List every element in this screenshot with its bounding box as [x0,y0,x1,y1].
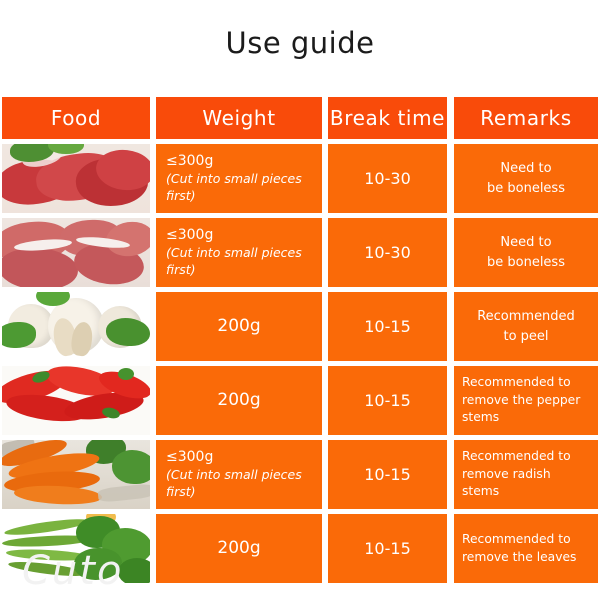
use-guide-table: Food Weight Break time Remarks ≤300g (Cu… [2,97,598,588]
table-row: 200g 10-15 Recommended to remove the lea… [2,514,598,583]
weight-note: (Cut into small pieces first) [166,171,322,205]
weight-cell: 200g [156,292,322,361]
carrot-photo [2,440,150,509]
header-cell-food: Food [2,97,150,139]
remark-line: remove radish [462,466,551,483]
garlic-photo [2,292,150,361]
break-time-value: 10-15 [364,391,411,410]
break-time-value: 10-15 [364,317,411,336]
weight-cell: ≤300g (Cut into small pieces first) [156,440,322,509]
food-cell [2,514,150,583]
weight-note: (Cut into small pieces first) [166,245,322,279]
remark-line: stems [462,409,499,426]
food-cell [2,440,150,509]
header-cell-break-time: Break time [328,97,447,139]
remarks-cell: Recommended to remove the pepper stems [454,366,598,435]
break-time-cell: 10-15 [328,514,447,583]
beef-slices-photo [2,144,150,213]
table-row: 200g 10-15 Recommended to peel [2,292,598,361]
weight-value: 200g [217,315,260,338]
break-time-value: 10-15 [364,465,411,484]
remarks-cell: Recommended to remove radish stems [454,440,598,509]
remark-line: Need to [500,233,551,253]
remarks-cell: Recommended to peel [454,292,598,361]
remark-line: Recommended to [462,374,571,391]
weight-cell: ≤300g (Cut into small pieces first) [156,218,322,287]
remark-line: be boneless [487,179,565,199]
remark-line: be boneless [487,253,565,273]
header-cell-weight: Weight [156,97,322,139]
remark-line: Recommended to [462,531,571,548]
break-time-value: 10-15 [364,539,411,558]
table-header-row: Food Weight Break time Remarks [2,97,598,139]
header-label-break-time: Break time [330,106,445,130]
cilantro-photo [2,514,150,583]
break-time-cell: 10-15 [328,292,447,361]
remark-line: remove the pepper [462,392,580,409]
header-label-food: Food [51,106,101,130]
header-label-remarks: Remarks [480,106,571,130]
remark-line: Recommended [477,307,575,327]
weight-cell: ≤300g (Cut into small pieces first) [156,144,322,213]
remarks-cell: Need to be boneless [454,218,598,287]
break-time-cell: 10-15 [328,440,447,509]
weight-value: ≤300g [166,226,213,245]
header-cell-remarks: Remarks [454,97,598,139]
remarks-cell: Need to be boneless [454,144,598,213]
weight-value: ≤300g [166,448,213,467]
remark-line: Recommended to [462,448,571,465]
weight-value: 200g [217,537,260,560]
food-cell [2,144,150,213]
weight-cell: 200g [156,514,322,583]
break-time-cell: 10-30 [328,144,447,213]
table-row: 200g 10-15 Recommended to remove the pep… [2,366,598,435]
remarks-cell: Recommended to remove the leaves [454,514,598,583]
table-row: ≤300g (Cut into small pieces first) 10-1… [2,440,598,509]
food-cell [2,218,150,287]
remark-line: Need to [500,159,551,179]
table-row: ≤300g (Cut into small pieces first) 10-3… [2,218,598,287]
red-pepper-photo [2,366,150,435]
pork-chops-photo [2,218,150,287]
weight-value: 200g [217,389,260,412]
weight-value: ≤300g [166,152,213,171]
break-time-cell: 10-30 [328,218,447,287]
table-row: ≤300g (Cut into small pieces first) 10-3… [2,144,598,213]
break-time-value: 10-30 [364,243,411,262]
food-cell [2,366,150,435]
remark-line: stems [462,483,499,500]
weight-note: (Cut into small pieces first) [166,467,322,501]
use-guide-page: Use guide Food Weight Break time Remarks [0,0,600,600]
header-label-weight: Weight [202,106,275,130]
food-cell [2,292,150,361]
weight-cell: 200g [156,366,322,435]
break-time-value: 10-30 [364,169,411,188]
remark-line: to peel [503,327,548,347]
remark-line: remove the leaves [462,549,576,566]
break-time-cell: 10-15 [328,366,447,435]
page-title: Use guide [0,26,600,60]
